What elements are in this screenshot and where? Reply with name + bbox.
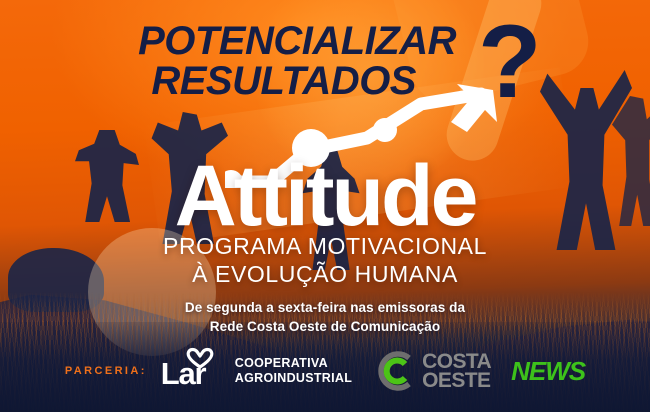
- c-ring-icon: [376, 351, 416, 391]
- subtitle-line-2: À EVOLUÇÃO HUMANA: [0, 260, 650, 288]
- broadcast-line-2: Rede Costa Oeste de Comunicação: [0, 317, 650, 336]
- lar-descriptor-line-2: AGROINDUSTRIAL: [235, 371, 352, 386]
- attitude-promo-poster: POTENCIALIZAR RESULTADOS ? Attitude PROG…: [0, 0, 650, 412]
- partner-bar: PARCERIA: Lar COOPERATIVA AGROINDUSTRIAL…: [0, 342, 650, 400]
- costa-oeste-wordmark: COSTA OESTE: [422, 352, 491, 391]
- question-mark-icon: ?: [478, 10, 542, 114]
- partnership-label: PARCERIA:: [65, 365, 147, 377]
- news-wordmark: NEWS: [511, 356, 585, 387]
- lar-descriptor-line-1: COOPERATIVA: [235, 356, 352, 371]
- costa-oeste-line-2: OESTE: [422, 371, 491, 390]
- subtitle-line-1: PROGRAMA MOTIVACIONAL: [0, 232, 650, 260]
- broadcast-info: De segunda a sexta-feira nas emissoras d…: [0, 298, 650, 336]
- lar-descriptor: COOPERATIVA AGROINDUSTRIAL: [235, 356, 352, 386]
- headline: POTENCIALIZAR RESULTADOS: [0, 22, 478, 101]
- broadcast-line-1: De segunda a sexta-feira nas emissoras d…: [0, 298, 650, 317]
- page-title: Attitude: [0, 158, 650, 235]
- lar-wordmark: Lar: [161, 358, 206, 389]
- headline-line-1: POTENCIALIZAR: [0, 22, 478, 60]
- subtitle: PROGRAMA MOTIVACIONAL À EVOLUÇÃO HUMANA: [0, 232, 650, 288]
- costa-oeste-logo: COSTA OESTE: [376, 351, 491, 391]
- headline-line-2: RESULTADOS: [0, 62, 478, 100]
- lar-logo: Lar: [161, 348, 223, 394]
